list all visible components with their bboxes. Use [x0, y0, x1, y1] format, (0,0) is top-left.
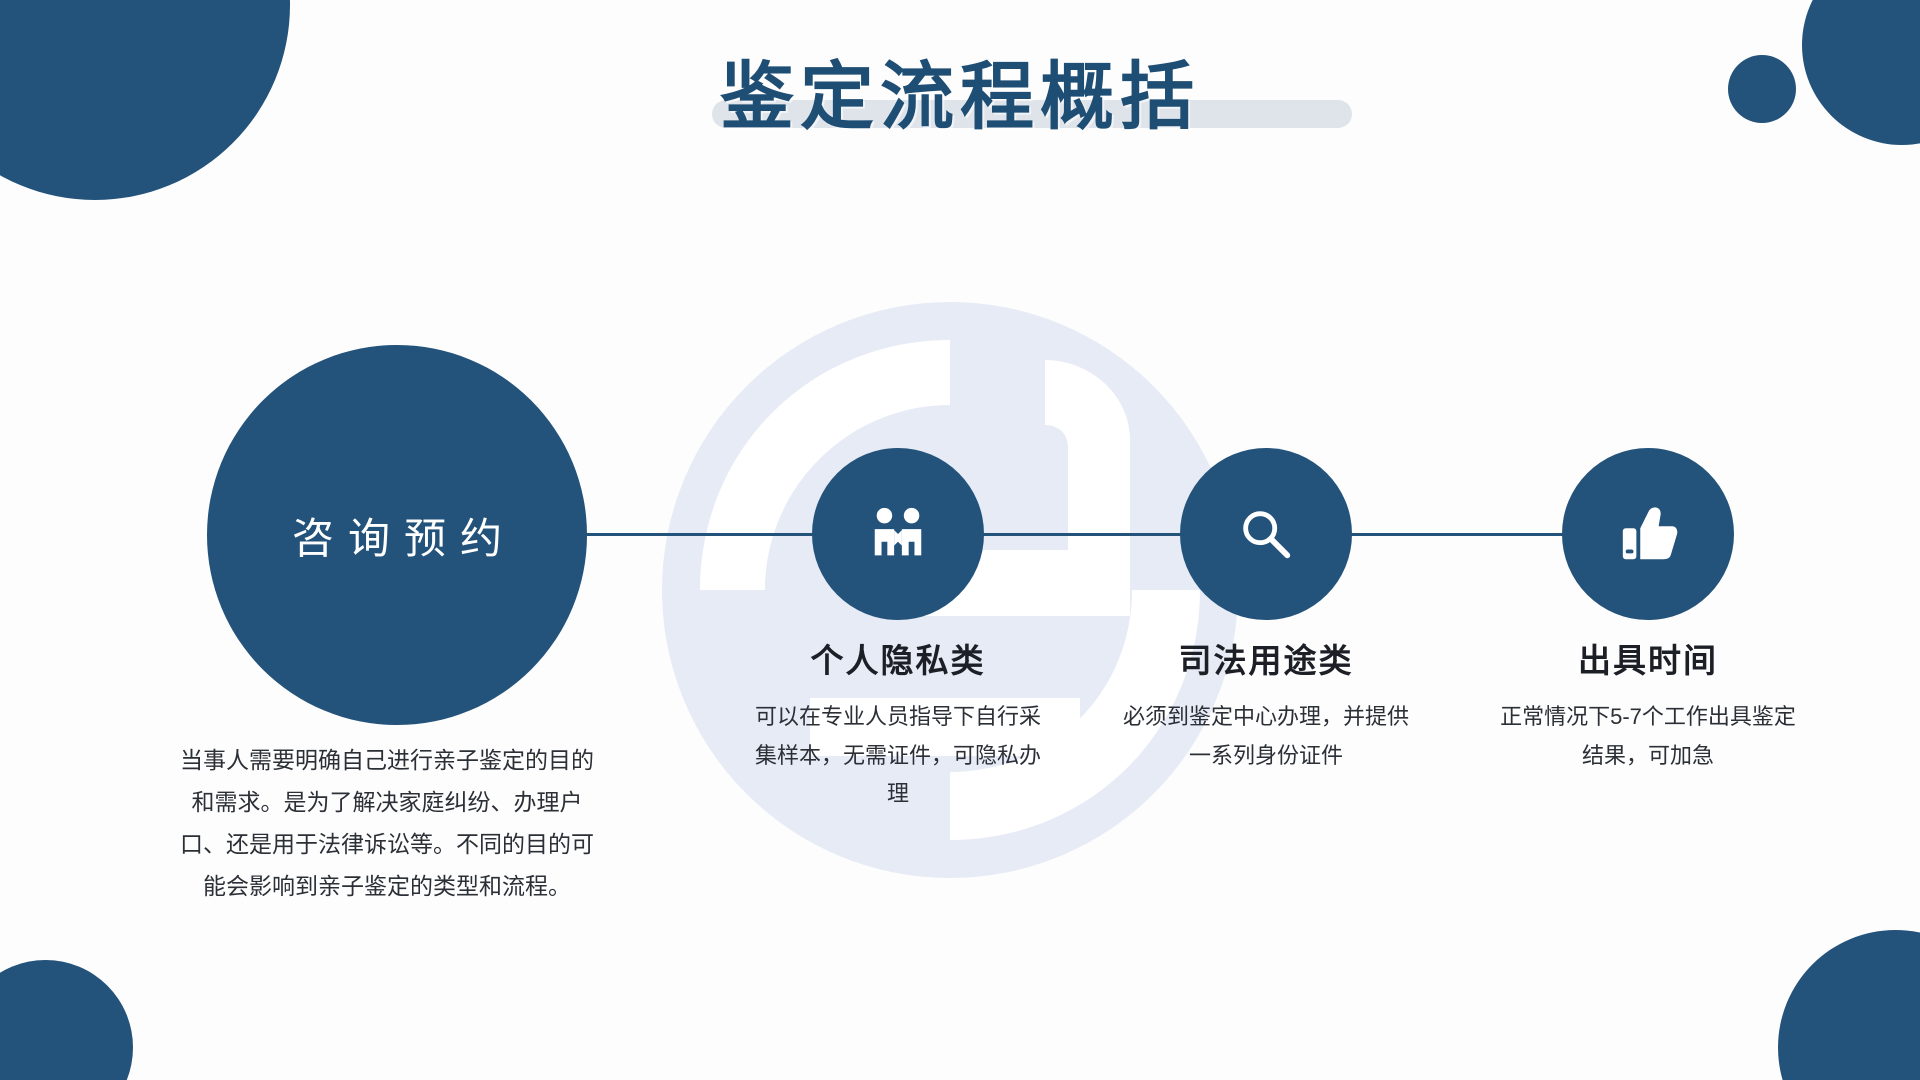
magnifier-icon [1235, 503, 1297, 565]
node-description-judicial-use: 必须到鉴定中心办理，并提供一系列身份证件 [1116, 698, 1416, 775]
connector-line-3 [1340, 533, 1570, 536]
node-circle-issue-time[interactable] [1562, 448, 1734, 620]
stage-description-consultation: 当事人需要明确自己进行亲子鉴定的目的和需求。是为了解决家庭纠纷、办理户口、还是用… [172, 740, 602, 907]
connector-line-2 [970, 533, 1185, 536]
stage-circle-consultation[interactable]: 咨询预约 [207, 345, 587, 725]
node-title-issue-time: 出具时间 [1478, 634, 1818, 682]
thumbs-up-icon [1617, 503, 1679, 565]
node-title-judicial-use: 司法用途类 [1096, 634, 1436, 682]
node-description-personal-privacy: 可以在专业人员指导下自行采集样本，无需证件，可隐私办理 [748, 698, 1048, 814]
page-title-wrapper: 鉴定流程概括 [0, 60, 1920, 134]
node-circle-personal-privacy[interactable] [812, 448, 984, 620]
decorative-circle-bottom-right [1778, 930, 1920, 1080]
two-people-icon [867, 503, 929, 565]
decorative-circle-bottom-left [0, 960, 133, 1080]
page-title: 鉴定流程概括 [720, 60, 1200, 134]
slide-canvas: 鉴定流程概括 咨询预约 当事人需要明确自己进行亲子鉴定的目的和需求。是为了解决家… [0, 0, 1920, 1080]
node-description-issue-time: 正常情况下5-7个工作出具鉴定结果，可加急 [1498, 698, 1798, 775]
node-circle-judicial-use[interactable] [1180, 448, 1352, 620]
connector-line-1 [578, 533, 818, 536]
stage-circle-label: 咨询预约 [278, 505, 516, 566]
node-title-personal-privacy: 个人隐私类 [728, 634, 1068, 682]
